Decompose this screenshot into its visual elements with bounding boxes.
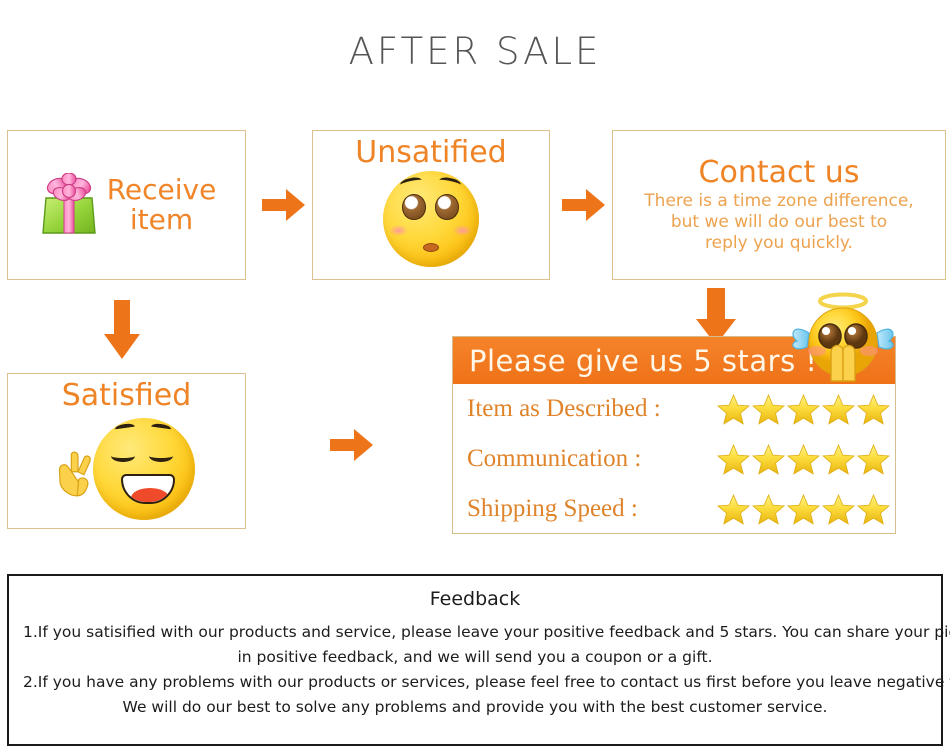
flow-step-label: Satisfied xyxy=(62,380,192,412)
star-icon xyxy=(857,493,890,526)
flow-step-label: Receive item xyxy=(107,175,217,235)
rating-row: Communication : xyxy=(453,434,895,484)
star-icon xyxy=(857,443,890,476)
contact-us-description: There is a time zone difference, but we … xyxy=(644,191,913,253)
star-icon xyxy=(752,443,785,476)
rating-label: Item as Described : xyxy=(467,395,717,423)
flow-step-contact-us: Contact us There is a time zone differen… xyxy=(612,130,946,280)
flow-step-label: Unsatified xyxy=(355,137,506,169)
star-icon xyxy=(717,493,750,526)
star-icon xyxy=(752,493,785,526)
rating-label: Shipping Speed : xyxy=(467,495,717,523)
flow-step-satisfied: Satisfied xyxy=(7,373,246,529)
angel-face-icon xyxy=(787,289,895,383)
victory-face-icon xyxy=(47,414,207,524)
rating-label: Communication : xyxy=(467,445,717,473)
feedback-panel: Feedback 1.If you satisified with our pr… xyxy=(7,574,943,746)
star-rating xyxy=(717,393,890,426)
pleading-face-icon xyxy=(383,171,479,267)
feedback-line: We will do our best to solve any problem… xyxy=(23,695,927,720)
arrow-receive-to-satisfied-icon xyxy=(103,300,141,365)
star-icon xyxy=(717,393,750,426)
star-icon xyxy=(787,393,820,426)
star-icon xyxy=(857,393,890,426)
gift-icon xyxy=(37,173,101,237)
flow-step-unsatisfied: Unsatified xyxy=(312,130,550,280)
star-icon xyxy=(822,393,855,426)
star-icon xyxy=(717,443,750,476)
arrow-receive-to-unsatified-icon xyxy=(262,188,306,227)
page-title: AFTER SALE xyxy=(0,30,950,73)
star-icon xyxy=(787,443,820,476)
star-rating xyxy=(717,493,890,526)
flow-step-label: Contact us xyxy=(699,157,860,189)
feedback-title: Feedback xyxy=(23,588,927,610)
after-sale-infographic: AFTER SALE xyxy=(0,0,950,754)
star-icon xyxy=(787,493,820,526)
star-icon xyxy=(822,493,855,526)
star-icon xyxy=(822,443,855,476)
flow-step-receive-item: Receive item xyxy=(7,130,246,280)
arrow-unsatified-to-contact-icon xyxy=(562,188,606,227)
feedback-line: in positive feedback, and we will send y… xyxy=(23,645,927,670)
rating-row: Shipping Speed : xyxy=(453,484,895,534)
arrow-satisfied-to-rating-icon xyxy=(330,428,374,467)
rating-row: Item as Described : xyxy=(453,384,895,434)
feedback-line: 2.If you have any problems with our prod… xyxy=(23,670,927,695)
feedback-line: 1.If you satisified with our products an… xyxy=(23,620,927,645)
star-icon xyxy=(752,393,785,426)
star-rating xyxy=(717,443,890,476)
